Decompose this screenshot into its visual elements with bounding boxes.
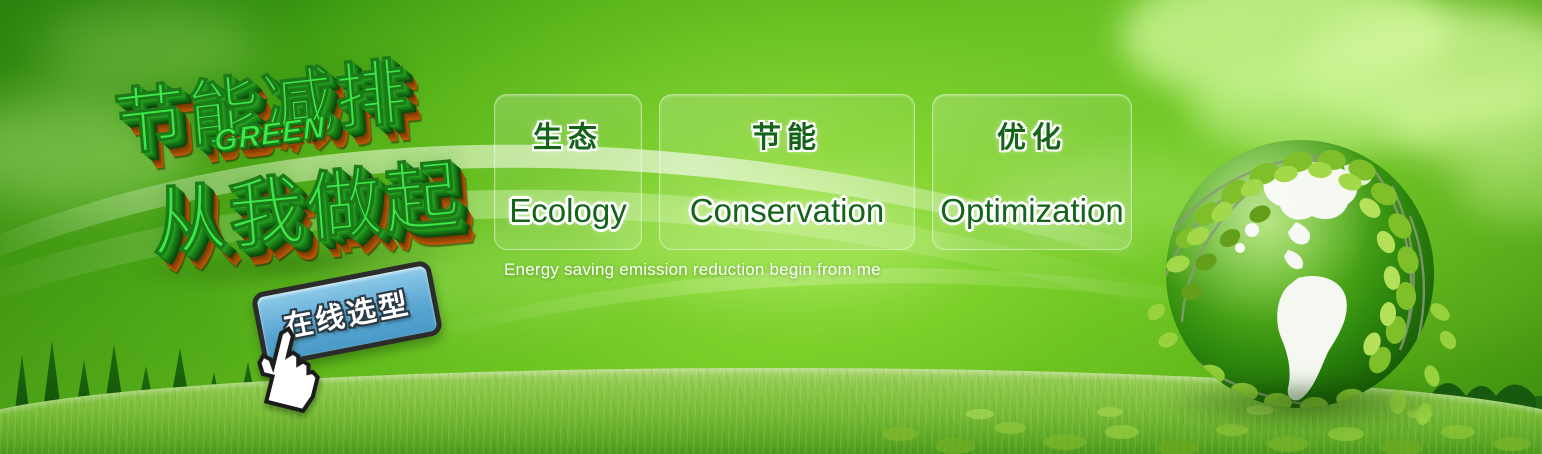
feature-card-ecology[interactable]: 生态 Ecology — [494, 94, 642, 250]
leafy-earth-globe-icon — [1148, 126, 1458, 438]
feature-card-optimization[interactable]: 优化 Optimization — [932, 94, 1132, 250]
feature-card-optimization-cn: 优化 — [997, 114, 1067, 156]
headline-3d-text: 节能减排 GREEN 从我做起 — [96, 29, 493, 288]
feature-cards: 生态 Ecology 节能 Conservation 优化 Optimizati… — [494, 94, 1132, 250]
feature-card-ecology-en: Ecology — [509, 192, 626, 230]
feature-card-conservation[interactable]: 节能 Conservation — [659, 94, 915, 250]
tagline: Energy saving emission reduction begin f… — [504, 260, 881, 280]
eco-promo-banner: 节能减排 GREEN 从我做起 在线选型 生态 Ecology 节能 Conse… — [0, 0, 1542, 454]
feature-card-conservation-en: Conservation — [690, 192, 884, 230]
feature-card-optimization-en: Optimization — [940, 192, 1123, 230]
feature-card-conservation-cn: 节能 — [752, 114, 822, 156]
feature-card-ecology-cn: 生态 — [533, 114, 603, 156]
